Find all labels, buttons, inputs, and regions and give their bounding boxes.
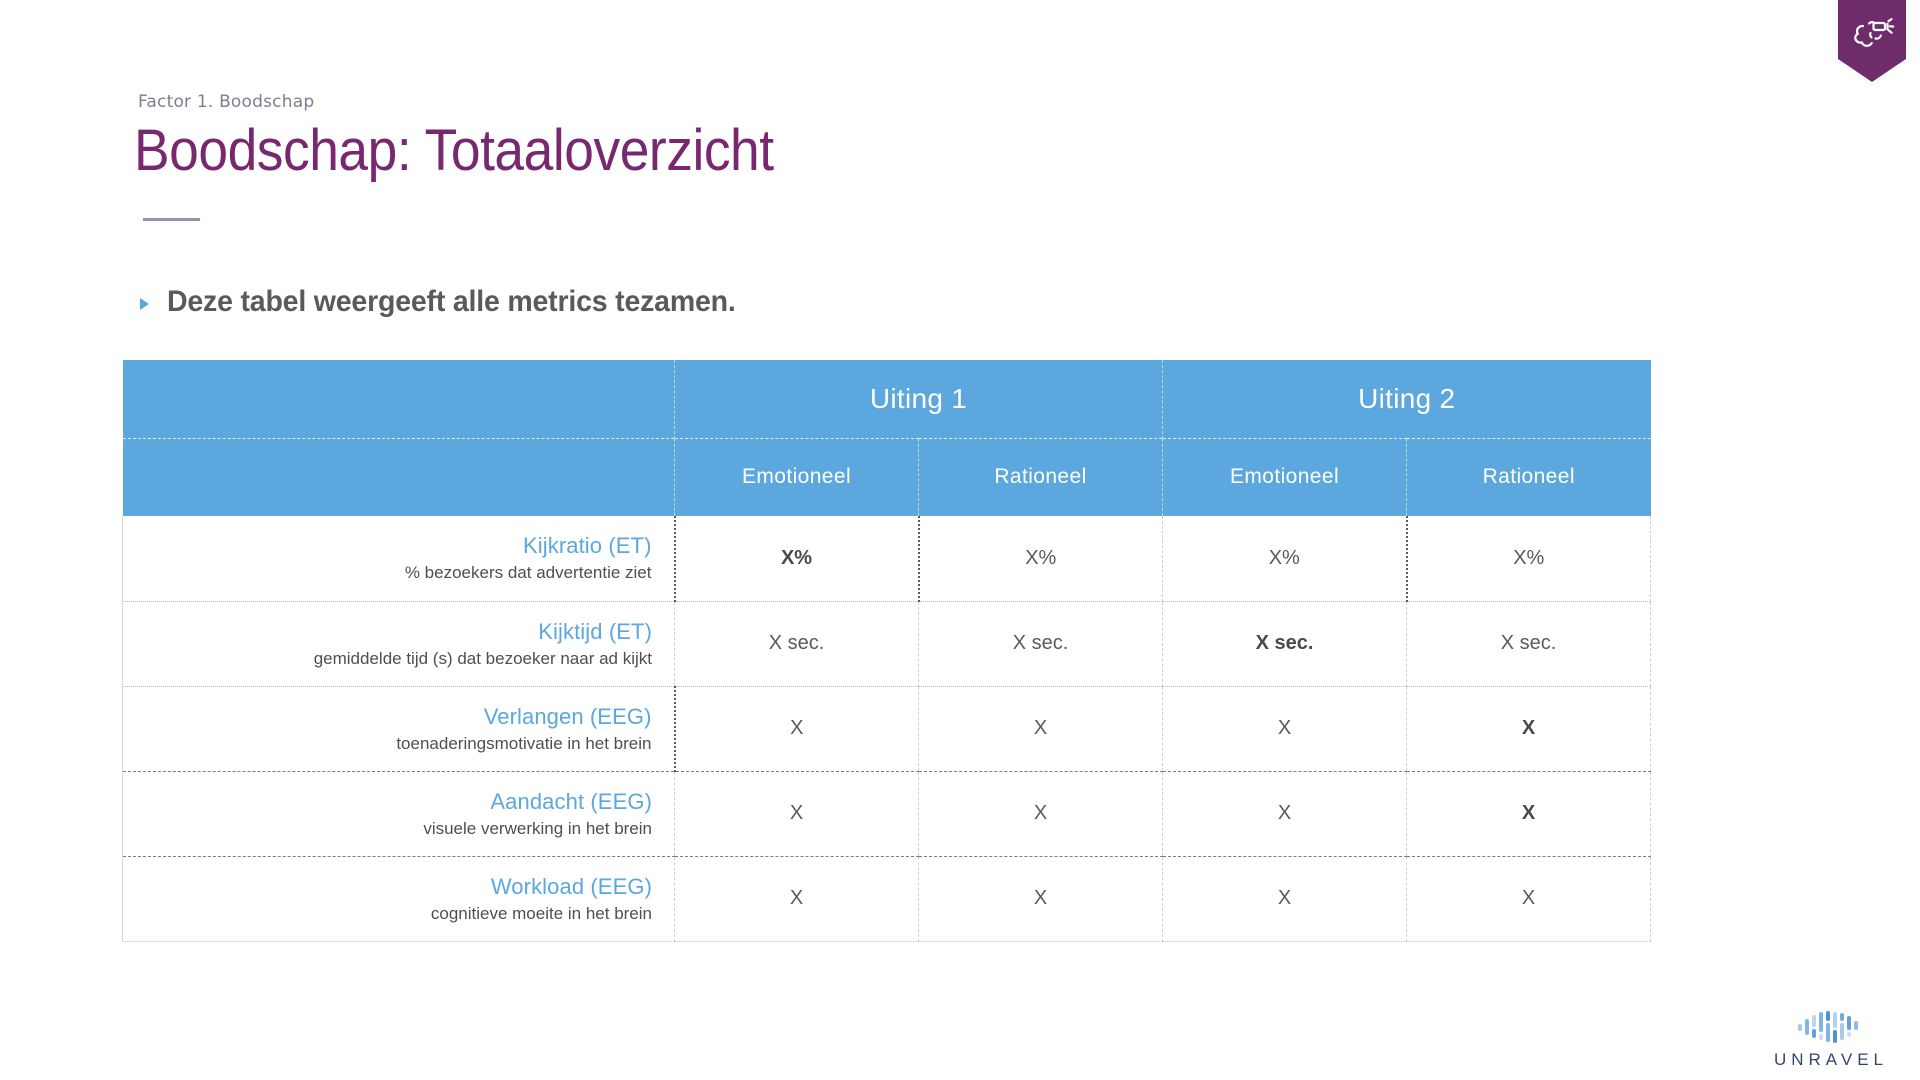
logo-wordmark: UNRAVEL <box>1756 1050 1906 1070</box>
metric-description: cognitieve moeite in het brein <box>123 903 652 925</box>
cell-r2-c3: X <box>1407 686 1651 771</box>
bullet-text: Deze tabel weergeeft alle metrics tezame… <box>167 285 736 319</box>
brain-megaphone-icon <box>1849 12 1895 54</box>
cell-r1-c0: X sec. <box>675 601 919 686</box>
row-label-workload: Workload (EEG) cognitieve moeite in het … <box>123 856 675 941</box>
metric-name: Aandacht (EEG) <box>123 788 652 816</box>
table-header-groups: Uiting 1 Uiting 2 <box>123 360 1651 438</box>
eyebrow-label: Factor 1. Boodschap <box>138 92 314 112</box>
table-row: Kijktijd (ET) gemiddelde tijd (s) dat be… <box>123 601 1651 686</box>
row-label-kijktijd: Kijktijd (ET) gemiddelde tijd (s) dat be… <box>123 601 675 686</box>
cell-r0-c2: X% <box>1163 516 1407 601</box>
cell-r3-c2: X <box>1163 771 1407 856</box>
slide-canvas: Factor 1. Boodschap Boodschap: Totaalove… <box>0 0 1920 1080</box>
subheader-u1-emotioneel: Emotioneel <box>675 438 919 516</box>
cell-r3-c1: X <box>919 771 1163 856</box>
triangle-right-icon <box>140 298 149 310</box>
metrics-table-wrap: Uiting 1 Uiting 2 Emotioneel Rationeel E… <box>122 360 1650 942</box>
table-body: Kijkratio (ET) % bezoekers dat advertent… <box>123 516 1651 941</box>
metric-description: % bezoekers dat advertentie ziet <box>123 562 652 584</box>
cell-r1-c2: X sec. <box>1163 601 1407 686</box>
cell-r2-c0: X <box>675 686 919 771</box>
row-label-kijkratio: Kijkratio (ET) % bezoekers dat advertent… <box>123 516 675 601</box>
metric-name: Kijktijd (ET) <box>123 618 652 646</box>
cell-r4-c0: X <box>675 856 919 941</box>
cell-r4-c3: X <box>1407 856 1651 941</box>
cell-r3-c3: X <box>1407 771 1651 856</box>
cell-r4-c2: X <box>1163 856 1407 941</box>
table-row: Kijkratio (ET) % bezoekers dat advertent… <box>123 516 1651 601</box>
table-row: Workload (EEG) cognitieve moeite in het … <box>123 856 1651 941</box>
unravel-logo: UNRAVEL <box>1756 1010 1906 1072</box>
subheader-u2-rationeel: Rationeel <box>1407 438 1651 516</box>
bullet-row: Deze tabel weergeeft alle metrics tezame… <box>140 285 766 319</box>
metric-name: Workload (EEG) <box>123 873 652 901</box>
metric-description: gemiddelde tijd (s) dat bezoeker naar ad… <box>123 648 652 670</box>
metric-name: Kijkratio (ET) <box>123 532 652 560</box>
metric-name: Verlangen (EEG) <box>123 703 652 731</box>
cell-r0-c1: X% <box>919 516 1163 601</box>
header-corner-blank <box>123 360 675 438</box>
header-group-uiting-2: Uiting 2 <box>1163 360 1651 438</box>
cell-r1-c1: X sec. <box>919 601 1163 686</box>
cell-r1-c3: X sec. <box>1407 601 1651 686</box>
brain-bars-icon <box>1792 1010 1870 1046</box>
cell-r0-c0: X% <box>675 516 919 601</box>
page-title: Boodschap: Totaaloverzicht <box>134 120 774 183</box>
cell-r2-c2: X <box>1163 686 1407 771</box>
cell-r3-c0: X <box>675 771 919 856</box>
table-row: Aandacht (EEG) visuele verwerking in het… <box>123 771 1651 856</box>
metric-description: visuele verwerking in het brein <box>123 818 652 840</box>
table-header-columns: Emotioneel Rationeel Emotioneel Rationee… <box>123 438 1651 516</box>
cell-r2-c1: X <box>919 686 1163 771</box>
subheader-corner-blank <box>123 438 675 516</box>
header-group-uiting-1: Uiting 1 <box>675 360 1163 438</box>
metric-description: toenaderingsmotivatie in het brein <box>123 733 652 755</box>
metrics-table: Uiting 1 Uiting 2 Emotioneel Rationeel E… <box>122 360 1651 942</box>
title-underline-rule <box>143 218 200 221</box>
table-row: Verlangen (EEG) toenaderingsmotivatie in… <box>123 686 1651 771</box>
row-label-verlangen: Verlangen (EEG) toenaderingsmotivatie in… <box>123 686 675 771</box>
cell-r4-c1: X <box>919 856 1163 941</box>
row-label-aandacht: Aandacht (EEG) visuele verwerking in het… <box>123 771 675 856</box>
cell-r0-c3: X% <box>1407 516 1651 601</box>
subheader-u2-emotioneel: Emotioneel <box>1163 438 1407 516</box>
subheader-u1-rationeel: Rationeel <box>919 438 1163 516</box>
factor-badge <box>1838 0 1906 82</box>
